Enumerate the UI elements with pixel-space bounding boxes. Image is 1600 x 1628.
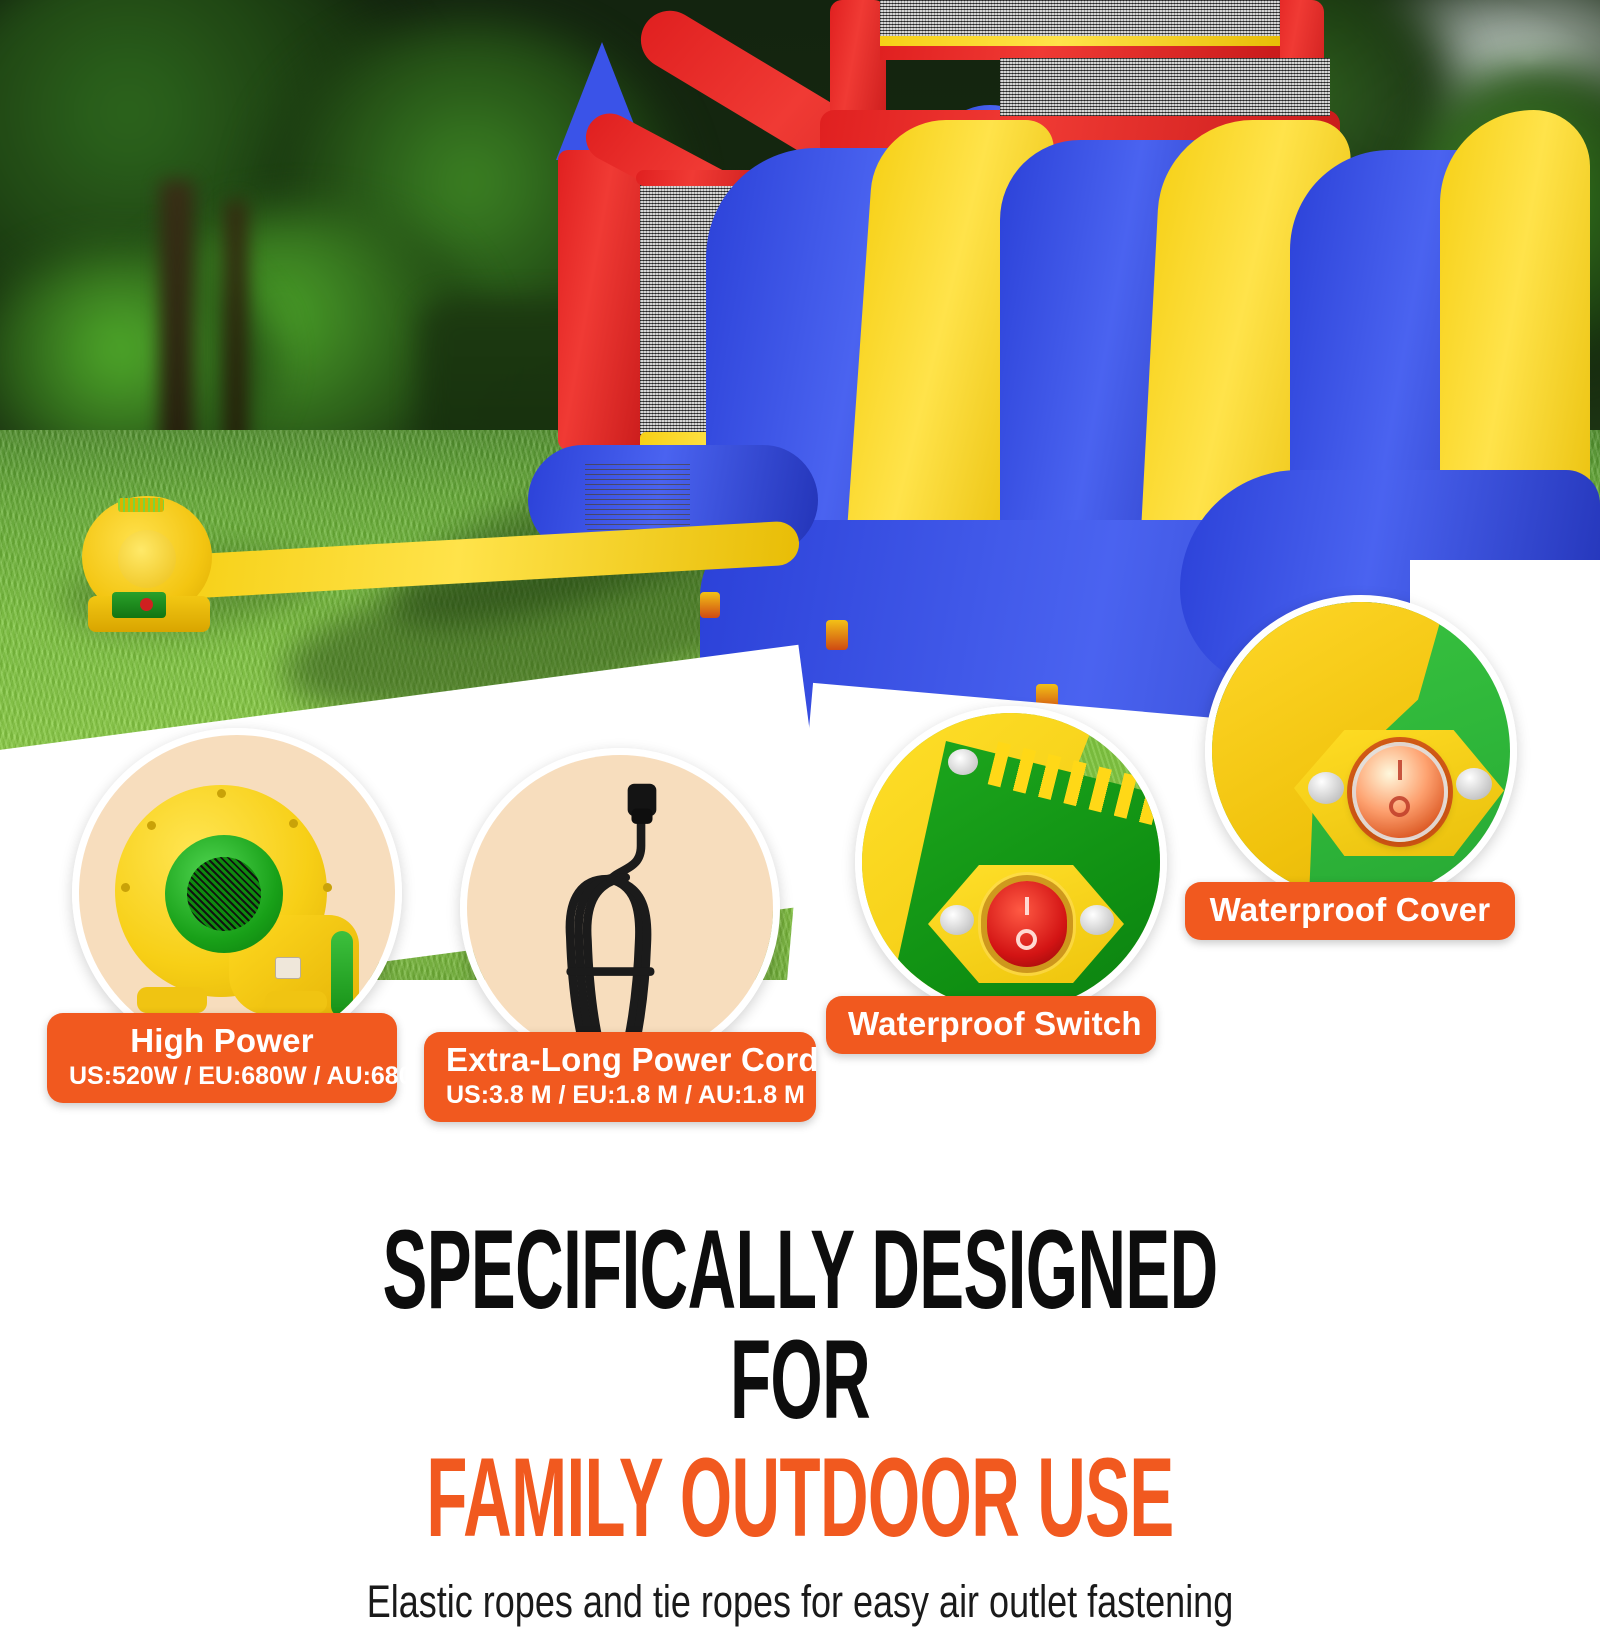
- headline-line-1: SPECIFICALLY DESIGNED FOR: [320, 1215, 1280, 1435]
- castle-turret-body: [558, 150, 646, 450]
- mesh-banner-top: [880, 0, 1280, 40]
- screw-bolt: [1456, 768, 1492, 800]
- air-blower-vent: [118, 498, 164, 512]
- rocker-switch-icon: [987, 881, 1067, 967]
- badge-waterproof-switch: Waterproof Switch: [826, 996, 1156, 1054]
- subtitle-text: Elastic ropes and tie ropes for easy air…: [160, 1576, 1440, 1628]
- screw-bolt: [147, 821, 156, 830]
- screw-bolt: [289, 819, 298, 828]
- tree-trunk: [225, 200, 247, 450]
- screw-bolt: [948, 749, 978, 775]
- badge-subtitle: US:520W / EU:680W / AU:680W: [69, 1062, 375, 1092]
- badge-title: Waterproof Cover: [1207, 891, 1493, 929]
- badge-title: High Power: [69, 1022, 375, 1060]
- badge-subtitle: US:3.8 M / EU:1.8 M / AU:1.8 M: [446, 1081, 794, 1111]
- banner-stripe-yellow: [880, 36, 1280, 46]
- switch-mark-i: [1398, 760, 1402, 780]
- badge-power-cord: Extra-Long Power Cord US:3.8 M / EU:1.8 …: [424, 1032, 816, 1122]
- headline-line-2: FAMILY OUTDOOR USE: [320, 1443, 1280, 1553]
- feature-circle-waterproof-switch: [855, 706, 1167, 1018]
- screw-bolt: [217, 789, 226, 798]
- blower-outlet-flange: [331, 931, 353, 1017]
- tree-trunk: [160, 180, 194, 460]
- ground-stake: [700, 592, 720, 618]
- blower-grille: [187, 857, 261, 931]
- power-cord-icon: [467, 755, 773, 1061]
- feature-circle-power-cord: [460, 748, 780, 1068]
- mesh-banner-lower: [1000, 58, 1330, 116]
- marketing-copy: SPECIFICALLY DESIGNED FOR FAMILY OUTDOOR…: [0, 1215, 1600, 1628]
- screw-bolt: [940, 905, 974, 935]
- feature-circle-waterproof-cover: [1205, 595, 1517, 907]
- screw-bolt: [323, 883, 332, 892]
- switch-mark-o: [1389, 796, 1410, 817]
- screw-bolt: [121, 883, 130, 892]
- switch-mark-o: [1016, 929, 1037, 950]
- feature-circle-high-power: [72, 728, 402, 1058]
- air-blower-switch-panel: [112, 592, 166, 618]
- screw-bolt: [1308, 772, 1344, 804]
- warning-label: [585, 460, 690, 530]
- air-blower-hub: [118, 530, 176, 588]
- warning-sticker: [275, 957, 301, 979]
- blower-foot: [265, 991, 327, 1013]
- ground-stake: [826, 620, 848, 650]
- switch-mark-i: [1025, 897, 1029, 915]
- badge-title: Extra-Long Power Cord: [446, 1041, 794, 1079]
- screw-bolt: [1080, 905, 1114, 935]
- badge-high-power: High Power US:520W / EU:680W / AU:680W: [47, 1013, 397, 1103]
- air-blower-switch-red: [140, 598, 153, 611]
- badge-waterproof-cover: Waterproof Cover: [1185, 882, 1515, 940]
- badge-title: Waterproof Switch: [848, 1005, 1134, 1043]
- blower-foot: [137, 987, 207, 1013]
- waterproof-cover-icon: [1352, 742, 1448, 842]
